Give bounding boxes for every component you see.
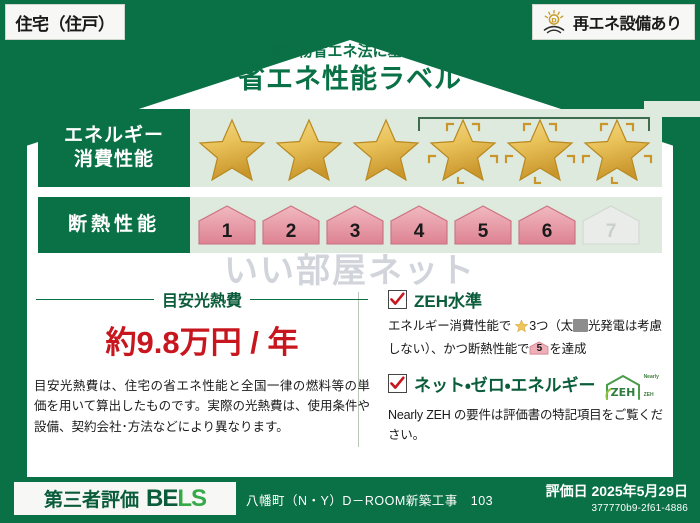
star-icon: [348, 112, 424, 184]
star-rating: 太陽光発電(自家消費)分: [190, 109, 662, 187]
insulation-house-icon: 6: [516, 203, 578, 247]
sun-icon: D: [541, 9, 567, 35]
energy-performance-key: エネルギー 消費性能: [38, 109, 190, 187]
zeh-standard-block: ZEH水準 エネルギー消費性能で 3つ（太光発電は考慮しない）、かつ断熱性能で …: [388, 287, 672, 359]
insulation-level-label: 2: [260, 221, 322, 243]
title-main: 省エネ性能ラベル: [0, 63, 700, 97]
redacted-text: [573, 319, 588, 332]
star-icon: [271, 112, 347, 184]
insulation-house-icon-inactive: 7: [580, 203, 642, 247]
zeh-body-part-a: エネルギー消費性能で: [388, 319, 511, 333]
zeh-body-part-b: 3つ（太: [529, 319, 573, 333]
net-zero-body: Nearly ZEH の要件は評価書の特記項目をご覧ください。: [388, 405, 672, 445]
svg-text:ZEH: ZEH: [610, 386, 635, 399]
insulation-house-icon: 4: [388, 203, 450, 247]
cost-heading: 目安光熱費: [28, 287, 376, 311]
energy-key-line1: エネルギー: [64, 124, 164, 148]
zeh-logo-icon: ZEH Nearly ZEH: [603, 365, 659, 401]
insulation-performance-row: 断熱性能 1: [38, 197, 662, 253]
footer-date-block: 評価日 2025年5月29日 377770b9-2f61-4886: [546, 481, 688, 514]
performance-panel: エネルギー 消費性能: [38, 109, 662, 281]
insulation-performance-key: 断熱性能: [38, 197, 190, 253]
rule-right: [250, 299, 368, 300]
zeh-standard-heading: ZEH水準: [388, 287, 672, 312]
energy-performance-value: 太陽光発電(自家消費)分: [190, 109, 662, 187]
building-type-tag: 住宅（住戸）: [5, 4, 125, 40]
net-zero-energy-block: ネット・ゼロ・エネルギー ZEH Nearly ZEH Nearly ZE: [388, 365, 672, 445]
zeh-body-part-d: を達成: [549, 342, 586, 356]
bels-jp-label: 第三者評価: [44, 485, 139, 512]
energy-performance-label: 住宅（住戸） D 再エネ設備あり 建築物省エネ法に基づく 省エネ: [0, 0, 700, 523]
bels-en-label: BELS: [146, 485, 206, 513]
zeh-logo-sub2: ZEH: [644, 392, 654, 398]
checkmark-icon: [388, 290, 407, 309]
insulation-house-icon-inline: 5: [529, 340, 549, 356]
insulation-performance-value: 1 2 3: [190, 197, 662, 253]
bels-en-light: LS: [177, 485, 206, 512]
star-icon: [194, 112, 270, 184]
insulation-house-icon: 1: [196, 203, 258, 247]
cost-column: 目安光熱費 約9.8万円 / 年 目安光熱費は、住宅の省エネ性能と全国一律の燃料…: [28, 287, 376, 452]
zeh-column: ZEH水準 エネルギー消費性能で 3つ（太光発電は考慮しない）、かつ断熱性能で …: [376, 287, 672, 452]
bottom-columns: 目安光熱費 約9.8万円 / 年 目安光熱費は、住宅の省エネ性能と全国一律の燃料…: [28, 287, 672, 452]
insulation-level-label: 6: [516, 221, 578, 243]
energy-key-line2: 消費性能: [74, 148, 154, 172]
footer-project-name: 八幡町（N・Y）D－ROOM新築工事 103: [246, 490, 493, 509]
checkmark-icon: [388, 374, 407, 393]
evaluation-date: 評価日 2025年5月29日: [546, 481, 688, 501]
insulation-key-label: 断熱性能: [68, 213, 160, 237]
insulation-house-icon: 3: [324, 203, 386, 247]
insulation-level-label: 4: [388, 221, 450, 243]
insulation-level-label: 3: [324, 221, 386, 243]
net-zero-heading: ネット・ゼロ・エネルギー ZEH Nearly ZEH: [388, 365, 672, 401]
title-block: 建築物省エネ法に基づく 省エネ性能ラベル: [0, 44, 700, 96]
insulation-level-label: 7: [580, 221, 642, 243]
document-id: 377770b9-2f61-4886: [546, 503, 688, 514]
inline-house-level: 5: [529, 341, 549, 357]
svg-text:D: D: [551, 16, 557, 24]
insulation-house-icon: 5: [452, 203, 514, 247]
rule-left: [36, 299, 154, 300]
zeh-standard-title: ZEH水準: [414, 287, 482, 312]
insulation-house-icon: 2: [260, 203, 322, 247]
net-zero-title: ネット・ゼロ・エネルギー: [414, 371, 596, 396]
cost-heading-label: 目安光熱費: [162, 287, 242, 311]
footer: 第三者評価 BELS 八幡町（N・Y）D－ROOM新築工事 103 評価日 20…: [0, 477, 700, 523]
insulation-level-label: 5: [452, 221, 514, 243]
building-type-label: 住宅（住戸）: [16, 10, 115, 35]
zeh-standard-body: エネルギー消費性能で 3つ（太光発電は考慮しない）、かつ断熱性能で 5 を達成: [388, 316, 672, 359]
star-icon: [514, 318, 529, 339]
insulation-level-label: 1: [196, 221, 258, 243]
solar-bracket: 太陽光発電(自家消費)分: [418, 113, 650, 131]
cost-note: 目安光熱費は、住宅の省エネ性能と全国一律の燃料等の単価を用いて算出したものです。…: [28, 376, 376, 437]
insulation-scale: 1 2 3: [190, 197, 642, 253]
energy-performance-row: エネルギー 消費性能: [38, 109, 662, 187]
renewable-energy-label: 再エネ設備あり: [573, 10, 682, 34]
bels-en-dark: BE: [146, 485, 177, 512]
cost-value: 約9.8万円 / 年: [28, 317, 376, 362]
zeh-logo-sub1: Nearly: [644, 374, 659, 380]
bels-badge: 第三者評価 BELS: [14, 482, 236, 515]
title-subtitle: 建築物省エネ法に基づく: [0, 44, 700, 61]
renewable-energy-tag: D 再エネ設備あり: [532, 4, 695, 40]
solar-bracket-label: 太陽光発電(自家消費)分: [644, 101, 700, 117]
